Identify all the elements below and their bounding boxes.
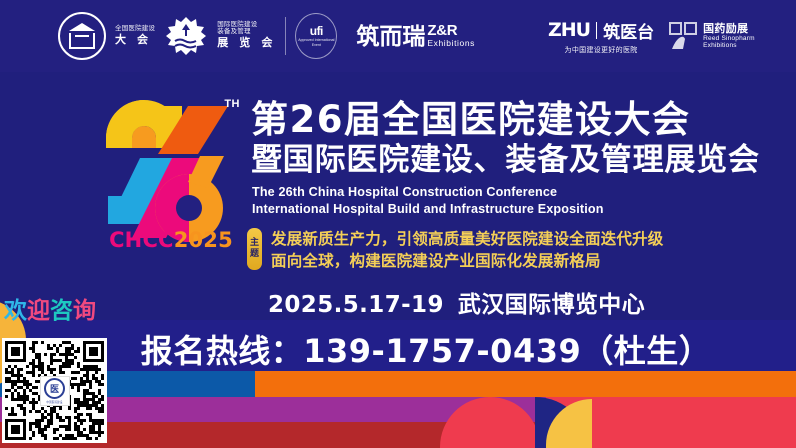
theme-line2: 面向全球，构建医院建设产业国际化发展新格局: [271, 250, 664, 272]
qr-code[interactable]: 医 中国医院建设: [2, 338, 107, 443]
welcome-char-2: 迎: [27, 298, 50, 324]
right-logo-group: ZHU 筑医台 为中国建设更好的医院 国药励展: [548, 14, 755, 58]
exhibition-logo-big: 展 览 会: [217, 38, 276, 50]
welcome-char-1: 欢: [4, 298, 27, 324]
partner-logo-bar: 全国医院建设 大 会 国际医院建设 装备及管理 展 览 会 ufi Appr: [0, 0, 796, 72]
theme-section: 主 题 发展新质生产力，引领高质量美好医院建设全面迭代升级 面向全球，构建医院建…: [247, 228, 664, 272]
zr-logo-abbr: Z&R: [427, 23, 475, 38]
event-date-venue: 2025.5.17-19武汉国际博览中心: [268, 285, 645, 319]
reed-logo-en2: Exhibitions: [703, 42, 755, 49]
zhuyitai-divider: [596, 22, 597, 39]
chcc-brand-text: CHCC2025: [96, 228, 246, 252]
building-seal-icon: [58, 12, 106, 60]
seal-glyph-icon: [668, 21, 698, 51]
exhibition-logo-text: 国际医院建设 装备及管理 展 览 会: [217, 22, 276, 49]
left-logo-group: 全国医院建设 大 会 国际医院建设 装备及管理 展 览 会 ufi Appr: [58, 12, 475, 60]
welcome-char-3: 咨: [50, 298, 73, 324]
ufi-subtitle: Approved International Event: [296, 38, 336, 47]
conference-logo-text: 全国医院建设 大 会: [115, 26, 155, 46]
zhuyitai-logo: ZHU 筑医台 为中国建设更好的医院: [548, 18, 654, 55]
theme-text: 发展新质生产力，引领高质量美好医院建设全面迭代升级 面向全球，构建医院建设产业国…: [271, 228, 664, 272]
chcc-brand-letters: CHCC: [109, 228, 174, 252]
zhuyitai-mark: ZHU: [548, 19, 590, 41]
qr-center-glyph: 医: [44, 378, 65, 399]
page-title-en: The 26th China Hospital Construction Con…: [252, 184, 604, 217]
page-title-cn-line2: 暨国际医院建设、装备及管理展览会: [251, 144, 760, 177]
page-title-cn-line1: 第26届全国医院建设大会: [251, 100, 691, 139]
conference-poster: 全国医院建设 大 会 国际医院建设 装备及管理 展 览 会 ufi Appr: [0, 0, 796, 448]
theme-line1: 发展新质生产力，引领高质量美好医院建设全面迭代升级: [271, 228, 664, 250]
decorative-color-bands: [0, 371, 796, 448]
conference-logo-big: 大 会: [115, 35, 155, 47]
zr-logo-cn: 筑而瑞: [356, 26, 425, 49]
exhibition-logo-line2: 装备及管理: [217, 29, 276, 36]
conference-logo-line1: 全国医院建设: [115, 26, 155, 33]
zr-exhibitions-logo: 筑而瑞 Z&R Exhibitions: [356, 23, 475, 49]
ufi-oval-icon: ufi Approved International Event: [295, 13, 337, 59]
event-venue: 武汉国际博览中心: [458, 292, 645, 318]
zhuyitai-cn: 筑医台: [603, 18, 654, 43]
qr-center-caption: 中国医院建设: [46, 400, 62, 404]
anniversary-superscript: TH: [224, 98, 240, 110]
theme-badge: 主 题: [247, 228, 262, 270]
page-title-en-line1: The 26th China Hospital Construction Con…: [252, 184, 604, 201]
reed-logo-cn: 国药励展: [703, 23, 755, 35]
welcome-consult-text: 欢迎咨询: [4, 300, 96, 323]
qr-center-logo: 医 中国医院建设: [40, 376, 70, 406]
welcome-char-4: 询: [73, 298, 96, 324]
theme-badge-char2: 题: [250, 249, 259, 260]
reed-logo-en1: Reed Sinopharm: [703, 35, 755, 42]
ufi-abbr: ufi: [310, 25, 323, 37]
page-title-en-line2: International Hospital Build and Infrast…: [252, 201, 604, 218]
zhuyitai-slogan: 为中国建设更好的医院: [548, 45, 654, 55]
event-date: 2025.5.17-19: [268, 292, 444, 318]
reed-sinopharm-logo: 国药励展 Reed Sinopharm Exhibitions: [668, 21, 755, 51]
registration-hotline: 报名热线：139-1757-0439（杜生）: [0, 326, 796, 372]
zr-logo-en: Exhibitions: [427, 39, 475, 48]
snowflake-icon: [164, 14, 208, 58]
chcc-brand-year: 2025: [174, 228, 233, 252]
theme-badge-char1: 主: [250, 238, 259, 249]
logo-divider: [285, 17, 286, 55]
